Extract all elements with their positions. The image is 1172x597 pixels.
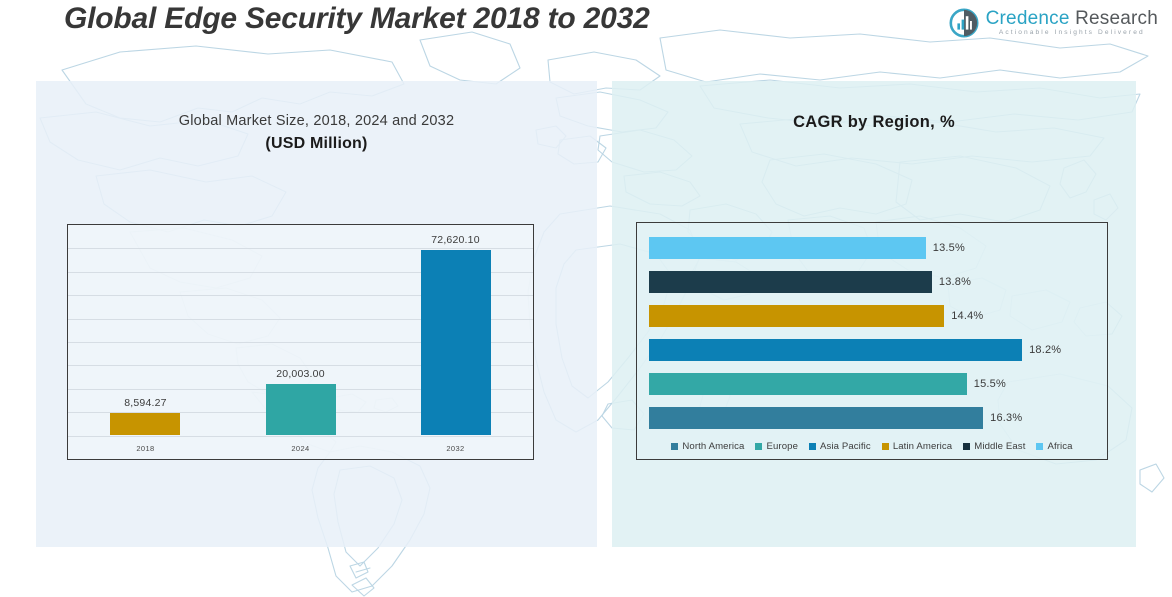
cagr-value-label: 13.5%	[933, 242, 965, 254]
chart-plot-area: 8,594.2720,003.0072,620.10	[68, 229, 533, 435]
cagr-row: 13.5%	[649, 237, 965, 259]
bar-africa[interactable]	[649, 237, 926, 259]
bar-asia-pacific[interactable]	[649, 339, 1022, 361]
legend-swatch-icon	[809, 443, 816, 450]
cagr-value-label: 14.4%	[951, 310, 983, 322]
legend-label: Middle East	[974, 441, 1025, 452]
x-axis-label-2024: 2024	[256, 444, 346, 453]
bar-column: 20,003.00	[266, 229, 336, 435]
bar-value-label: 20,003.00	[276, 368, 325, 380]
page-header: Global Edge Security Market 2018 to 2032…	[0, 0, 1172, 58]
cagr-value-label: 15.5%	[974, 378, 1006, 390]
market-size-chart: 8,594.2720,003.0072,620.10 201820242032	[67, 224, 534, 460]
legend-swatch-icon	[671, 443, 678, 450]
legend-label: North America	[682, 441, 744, 452]
cagr-value-label: 13.8%	[939, 276, 971, 288]
legend-swatch-icon	[882, 443, 889, 450]
cagr-row: 15.5%	[649, 373, 1006, 395]
cagr-row: 18.2%	[649, 339, 1061, 361]
legend-item-latin-america[interactable]: Latin America	[882, 441, 952, 452]
legend-label: Asia Pacific	[820, 441, 871, 452]
bar-europe[interactable]	[649, 373, 967, 395]
cagr-row: 16.3%	[649, 407, 1022, 429]
cagr-value-label: 18.2%	[1029, 344, 1061, 356]
legend-item-asia-pacific[interactable]: Asia Pacific	[809, 441, 871, 452]
cagr-legend: North AmericaEuropeAsia PacificLatin Ame…	[637, 441, 1107, 452]
cagr-title: CAGR by Region, %	[612, 113, 1136, 132]
bar-2032[interactable]	[421, 250, 491, 435]
logo-tagline: Actionable Insights Delivered	[986, 30, 1158, 37]
bar-chart-circle-icon	[949, 8, 979, 38]
logo-name-secondary: Research	[1075, 8, 1158, 29]
x-axis-label-2032: 2032	[411, 444, 501, 453]
legend-swatch-icon	[755, 443, 762, 450]
cagr-chart: North AmericaEuropeAsia PacificLatin Ame…	[636, 222, 1108, 460]
bar-2018[interactable]	[110, 413, 180, 435]
logo-name-primary: Credence	[986, 8, 1070, 29]
gridline	[68, 436, 533, 437]
legend-label: Europe	[766, 441, 798, 452]
x-axis-label-2018: 2018	[100, 444, 190, 453]
bar-latin-america[interactable]	[649, 305, 944, 327]
bar-column: 72,620.10	[421, 229, 491, 435]
legend-item-north-america[interactable]: North America	[671, 441, 744, 452]
cagr-panel: CAGR by Region, % North AmericaEuropeAsi…	[612, 81, 1136, 547]
legend-item-middle-east[interactable]: Middle East	[963, 441, 1025, 452]
market-size-title-line1: Global Market Size, 2018, 2024 and 2032	[36, 113, 597, 129]
bar-value-label: 72,620.10	[431, 234, 480, 246]
market-size-title-line2: (USD Million)	[36, 135, 597, 153]
cagr-row: 14.4%	[649, 305, 983, 327]
brand-logo: Credence Research Actionable Insights De…	[949, 8, 1158, 38]
bar-value-label: 8,594.27	[124, 397, 166, 409]
legend-item-europe[interactable]: Europe	[755, 441, 798, 452]
bar-north-america[interactable]	[649, 407, 983, 429]
legend-swatch-icon	[1036, 443, 1043, 450]
bar-2024[interactable]	[266, 384, 336, 435]
cagr-row: 13.8%	[649, 271, 971, 293]
cagr-value-label: 16.3%	[990, 412, 1022, 424]
legend-item-africa[interactable]: Africa	[1036, 441, 1072, 452]
market-size-panel: Global Market Size, 2018, 2024 and 2032 …	[36, 81, 597, 547]
bar-column: 8,594.27	[110, 229, 180, 435]
legend-swatch-icon	[963, 443, 970, 450]
legend-label: Africa	[1047, 441, 1072, 452]
bar-middle-east[interactable]	[649, 271, 932, 293]
legend-label: Latin America	[893, 441, 952, 452]
page-title: Global Edge Security Market 2018 to 2032	[64, 2, 650, 36]
